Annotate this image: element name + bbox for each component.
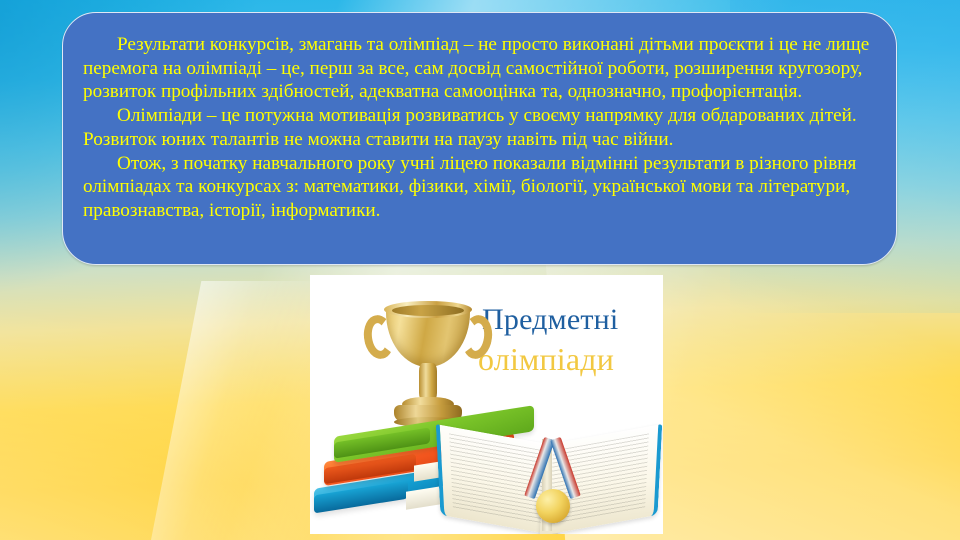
paragraph-3: Отож, з початку навчального року учні лі… — [83, 152, 874, 223]
olympiad-illustration[interactable]: Предметні олімпіади — [310, 275, 663, 534]
paragraph-1: Результати конкурсів, змагань та олімпіа… — [83, 33, 874, 104]
trophy-stem — [419, 363, 437, 401]
text-panel[interactable]: Результати конкурсів, змагань та олімпіа… — [62, 12, 897, 265]
illustration-caption-line2: олімпіади — [478, 341, 614, 378]
open-book — [438, 435, 658, 534]
illustration-canvas: Предметні олімпіади — [310, 275, 663, 534]
trophy-rim-inner — [392, 305, 464, 316]
illustration-caption-line1: Предметні — [482, 303, 618, 337]
medal-icon — [536, 489, 570, 523]
slide-canvas: Результати конкурсів, змагань та олімпіа… — [0, 0, 960, 540]
paragraph-2: Олімпіади – це потужна мотивація розвива… — [83, 104, 874, 151]
